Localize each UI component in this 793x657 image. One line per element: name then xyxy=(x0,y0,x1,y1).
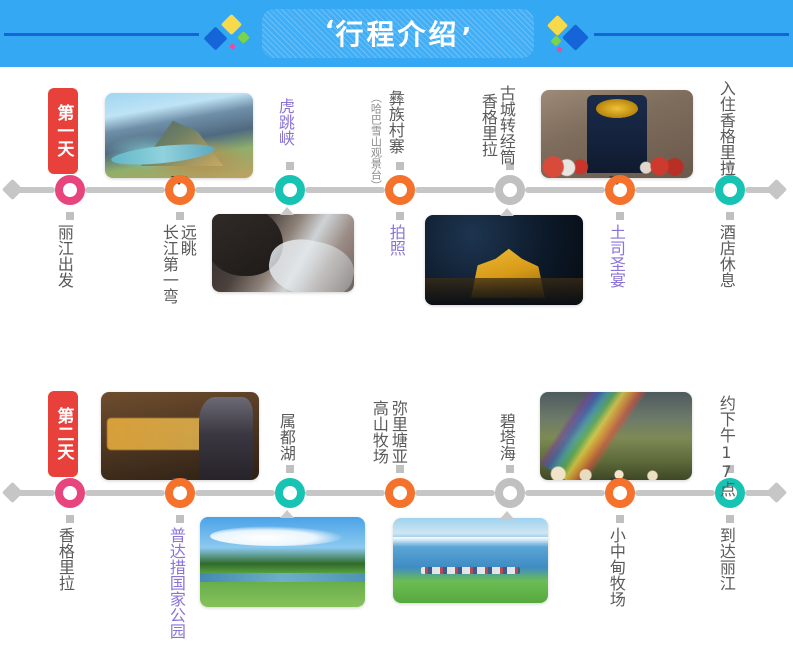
diamond-green-icon xyxy=(550,35,561,46)
node-tick xyxy=(396,212,404,220)
stop-label-shangrila-start: 香格里拉 xyxy=(56,527,74,591)
timeline-node-alpine-pasture[interactable] xyxy=(385,478,415,508)
timeline-node-shangrila-start[interactable] xyxy=(55,478,85,508)
axis-segment xyxy=(17,187,55,193)
stop-note-haba-viewpoint: （哈巴雪山观景台） xyxy=(369,92,381,191)
photo-scene xyxy=(541,90,693,178)
stop-note-shangrila: 香格里拉 xyxy=(479,93,497,157)
node-tick xyxy=(396,162,404,170)
photo-pointer-up xyxy=(500,208,514,216)
day-badge-2: 第二天 xyxy=(48,391,78,477)
stop-label-lijiang-depart: 丽江出发 xyxy=(55,224,73,288)
stop-label-arrive-lijiang: 到达丽江 xyxy=(717,527,735,591)
diamond-blue-icon xyxy=(562,24,589,51)
axis-segment xyxy=(415,187,495,193)
header-rule-left xyxy=(4,33,199,36)
stop-label-arrive-time: 约下午17点 xyxy=(717,395,735,497)
photo-changjiang-first-bend[interactable] xyxy=(105,93,253,178)
diamond-yellow-icon xyxy=(221,14,242,35)
photo-scene xyxy=(105,93,253,178)
photo-shudu-lake[interactable] xyxy=(200,517,365,607)
timeline-node-yi-village[interactable] xyxy=(385,175,415,205)
stop-label-shudu-lake: 属都湖 xyxy=(277,413,295,461)
node-tick xyxy=(616,515,624,523)
node-tick xyxy=(176,515,184,523)
quote-open-icon: ‘ xyxy=(325,18,335,44)
header-rule-right xyxy=(594,33,789,36)
timeline-node-changjiang-bend[interactable] xyxy=(165,175,195,205)
stop-note-milit-tang: 弥里塘亚 xyxy=(389,400,407,464)
timeline-node-tusi-feast[interactable] xyxy=(605,175,635,205)
photo-scene xyxy=(200,517,365,607)
axis-segment xyxy=(525,187,605,193)
photo-xiaozhongdian-pasture[interactable] xyxy=(540,392,692,480)
axis-segment xyxy=(195,490,275,496)
timeline-node-bita-lake[interactable] xyxy=(495,478,525,508)
photo-scene xyxy=(101,392,259,480)
stop-label-xiaozhongdian: 小中甸牧场 xyxy=(607,527,625,607)
timeline-row-day2: 第二天 香格里拉 普达措国家公园 属都湖 高山牧场 弥里塘亚 碧塔 xyxy=(0,380,793,650)
axis-segment xyxy=(17,490,55,496)
diamond-pink-icon xyxy=(229,43,236,50)
diamond-blue-icon xyxy=(203,26,227,50)
axis-segment xyxy=(635,187,715,193)
axis-end-cap xyxy=(766,179,787,200)
node-tick xyxy=(66,212,74,220)
stop-label-pudacuo: 普达措国家公园 xyxy=(167,527,185,639)
axis-segment xyxy=(525,490,605,496)
photo-scene xyxy=(212,214,354,292)
photo-pudacuo-national-park[interactable] xyxy=(101,392,259,480)
village-houses xyxy=(540,450,692,480)
node-tick xyxy=(286,465,294,473)
node-tick xyxy=(726,515,734,523)
timeline-node-xiaozhongdian[interactable] xyxy=(605,478,635,508)
axis-segment xyxy=(85,490,165,496)
day-badge-1: 第一天 xyxy=(48,88,78,174)
photo-tiger-leaping-gorge[interactable] xyxy=(212,214,354,292)
photo-old-town-prayer-wheel[interactable] xyxy=(425,215,583,305)
diamond-green-icon xyxy=(237,31,250,44)
node-tick xyxy=(506,465,514,473)
decoration-diamonds-right xyxy=(548,14,608,54)
timeline-node-pudacuo[interactable] xyxy=(165,478,195,508)
stop-label-tiger-gorge: 虎跳峡 xyxy=(276,98,294,146)
node-tick xyxy=(286,162,294,170)
timeline-node-shangrila-hotel[interactable] xyxy=(715,175,745,205)
timeline-node-tiger-gorge[interactable] xyxy=(275,175,305,205)
timeline-node-lijiang-depart[interactable] xyxy=(55,175,85,205)
axis-segment xyxy=(85,187,165,193)
photo-scene xyxy=(540,392,692,480)
timeline-node-shudu-lake[interactable] xyxy=(275,478,305,508)
axis-end-cap xyxy=(766,482,787,503)
photo-bita-lake[interactable] xyxy=(393,518,548,603)
stop-label-alpine-pasture: 高山牧场 xyxy=(370,400,388,464)
decoration-diamonds-left xyxy=(205,14,265,54)
stop-label-bita-lake: 碧塔海 xyxy=(497,413,515,461)
timeline-node-prayer-wheel[interactable] xyxy=(495,175,525,205)
photo-crowd xyxy=(541,141,693,178)
timeline-row-day1: 第一天 丽江出发 远眺 长江第一弯 虎跳峡 彝族村寨 （哈巴雪山观景台） xyxy=(0,80,793,310)
photo-tusi-feast[interactable] xyxy=(541,90,693,178)
stop-label-hotel-rest: 酒店休息 xyxy=(717,224,735,288)
axis-segment xyxy=(305,490,385,496)
axis-segment xyxy=(415,490,495,496)
node-tick xyxy=(726,212,734,220)
photo-pointer-up xyxy=(280,510,294,518)
photo-pointer-up xyxy=(280,207,294,215)
diamond-pink-icon xyxy=(556,46,563,53)
stop-label-far-view: 远眺 xyxy=(178,224,196,256)
axis-segment xyxy=(635,490,715,496)
axis-segment xyxy=(195,187,275,193)
stop-label-tusi-feast: 土司圣宴 xyxy=(607,224,625,288)
node-tick xyxy=(66,515,74,523)
node-tick xyxy=(396,465,404,473)
stop-label-checkin-shangrila: 入住香格里拉 xyxy=(717,80,735,176)
node-tick xyxy=(616,212,624,220)
photo-pointer-up xyxy=(500,511,514,519)
page-title-pill: ‘ 行程介绍 ’ xyxy=(262,9,534,58)
stop-label-prayer-wheel: 古城转经筒 xyxy=(497,85,515,165)
stop-label-photo: 拍照 xyxy=(387,224,405,256)
header-banner: ‘ 行程介绍 ’ xyxy=(0,0,793,67)
page-title: 行程介绍 xyxy=(335,21,459,49)
photo-scene xyxy=(425,215,583,305)
quote-close-icon: ’ xyxy=(462,25,472,51)
photo-scene xyxy=(393,518,548,603)
stop-label-yi-village: 彝族村寨 xyxy=(386,90,404,154)
node-tick xyxy=(176,212,184,220)
stop-label-changjiang-bend: 长江第一弯 xyxy=(160,224,178,304)
